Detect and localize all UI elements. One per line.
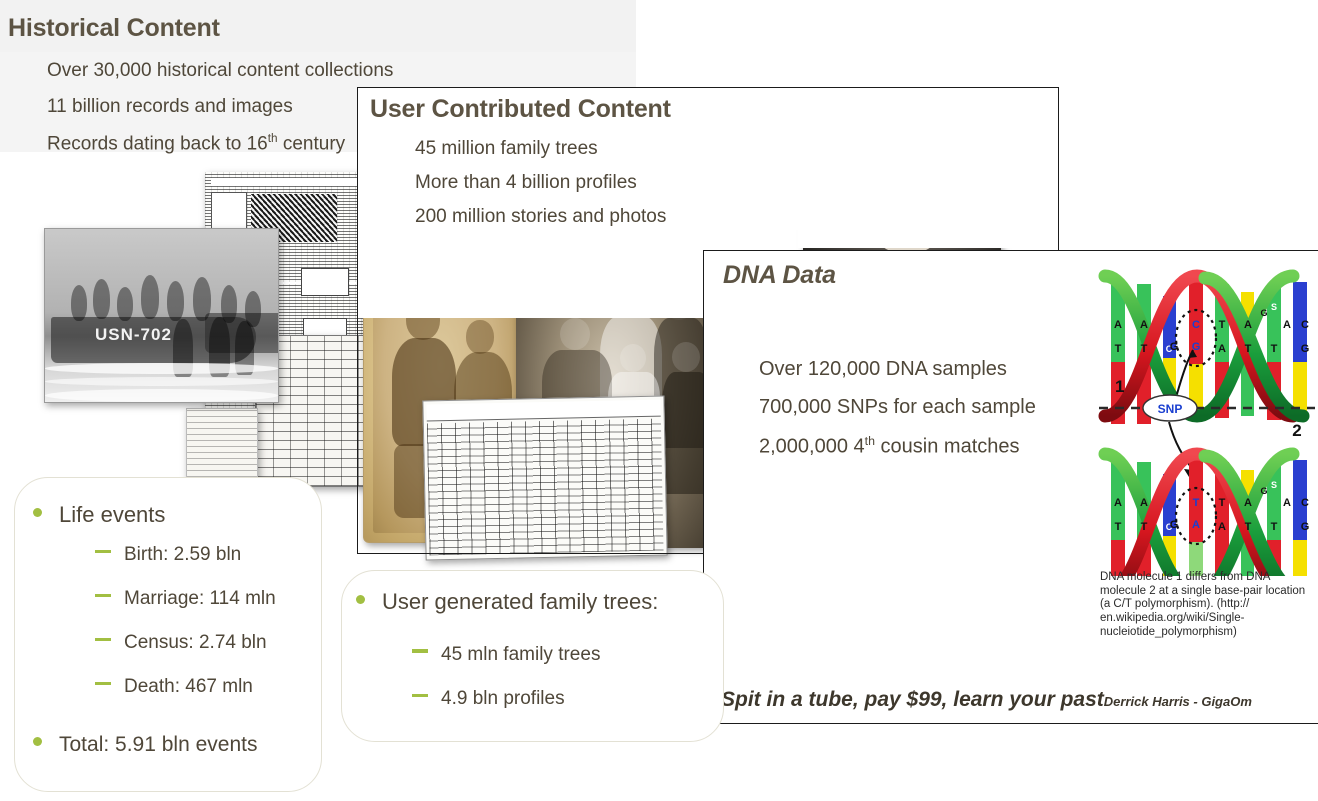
dna-tagline-credit: Derrick Harris - GigaOm: [1104, 694, 1252, 709]
life-events-item-4-label: Death: 467 mln: [124, 676, 253, 698]
svg-text:T: T: [1193, 497, 1200, 509]
dna-bullet-2-text: 700,000 SNPs for each sample: [759, 396, 1036, 418]
life-events-item-2: Marriage: 114 mln: [95, 588, 276, 610]
bullet-dot-icon: [356, 595, 365, 604]
bullet-dot-icon: [33, 508, 42, 517]
dna-bullet-3-post: cousin matches: [875, 436, 1020, 458]
life-events-item-2-label: Marriage: 114 mln: [124, 588, 276, 610]
svg-text:G: G: [1301, 343, 1310, 355]
dna-helix-svg: AA C C TA G S AC TT G G AT TG: [1097, 266, 1318, 576]
family-trees-item-1-label: 45 mln family trees: [441, 644, 600, 666]
historical-content-title: Historical Content: [8, 14, 220, 43]
svg-text:A: A: [1244, 319, 1252, 331]
ucc-bullet-1: 45 million family trees: [415, 138, 598, 160]
family-trees-heading: User generated family trees:: [382, 589, 658, 615]
family-trees-heading-row: User generated family trees:: [356, 589, 658, 615]
svg-text:A: A: [1114, 319, 1122, 331]
svg-text:A: A: [1244, 497, 1252, 509]
svg-text:A: A: [1114, 497, 1122, 509]
historical-bullet-1: Over 30,000 historical content collectio…: [47, 60, 393, 82]
svg-text:A: A: [1218, 521, 1226, 533]
historical-bullet-3: Records dating back to 16th century: [47, 132, 345, 155]
ucc-bullet-3: 200 million stories and photos: [415, 206, 666, 228]
historical-bullet-2: 11 billion records and images: [47, 96, 293, 118]
dna-bullet-3-sup: th: [865, 434, 875, 448]
svg-text:T: T: [1141, 343, 1148, 355]
svg-text:T: T: [1219, 497, 1226, 509]
dna-bullet-2: 700,000 SNPs for each sample: [759, 396, 1036, 419]
life-events-total: Total: 5.91 bln events: [59, 733, 257, 757]
dna-bullet-3-text: 2,000,000 4: [759, 436, 865, 458]
ucc-bullet-2: More than 4 billion profiles: [415, 172, 637, 194]
historical-bullet-3-sup: th: [268, 132, 278, 145]
family-trees-item-1: 45 mln family trees: [412, 644, 600, 666]
svg-text:G: G: [1260, 486, 1267, 496]
svg-text:S: S: [1271, 302, 1277, 312]
dna-molecule-2-label: 2: [1292, 421, 1301, 440]
dash-bullet-icon: [412, 694, 428, 697]
dna-tagline: Spit in a tube, pay $99, learn your past…: [721, 688, 1252, 712]
life-events-total-row: Total: 5.91 bln events: [33, 733, 257, 757]
svg-text:A: A: [1283, 497, 1291, 509]
panel-dna-data: DNA Data Over 120,000 DNA samples 700,00…: [703, 250, 1318, 724]
dash-bullet-icon: [95, 550, 111, 553]
dna-snp-figure: AA C C TA G S AC TT G G AT TG: [1097, 266, 1318, 576]
svg-text:G: G: [1301, 521, 1310, 533]
life-events-heading-row: Life events: [33, 502, 165, 528]
life-events-item-4: Death: 467 mln: [95, 676, 253, 698]
dash-bullet-icon: [95, 638, 111, 641]
svg-text:T: T: [1271, 521, 1278, 533]
dash-bullet-icon: [412, 649, 428, 653]
svg-text:G: G: [1260, 308, 1267, 318]
ucc-bullet-1-text: 45 million family trees: [415, 138, 598, 159]
svg-text:T: T: [1115, 521, 1122, 533]
ucc-bullet-2-text: More than 4 billion profiles: [415, 172, 637, 193]
snp-pill-label: SNP: [1158, 402, 1183, 416]
dna-molecule-2: AA C T TA G S AC TT G A AT TG: [1105, 454, 1309, 576]
dna-molecule-1-label: 1: [1115, 377, 1124, 396]
landing-craft-hull-number: USN-702: [95, 325, 172, 345]
svg-text:T: T: [1245, 343, 1252, 355]
bullet-dot-icon: [33, 737, 42, 746]
dna-bullet-1: Over 120,000 DNA samples: [759, 358, 1007, 381]
family-trees-item-2: 4.9 bln profiles: [412, 688, 565, 710]
callout-life-events: Life events Birth: 2.59 bln Marriage: 11…: [14, 477, 322, 792]
dash-bullet-icon: [95, 682, 111, 685]
user-contributed-content-title: User Contributed Content: [370, 95, 671, 124]
svg-text:T: T: [1115, 343, 1122, 355]
svg-text:T: T: [1219, 319, 1226, 331]
historical-bullet-3-post: century: [278, 133, 346, 154]
life-events-item-3: Census: 2.74 bln: [95, 632, 267, 654]
svg-text:A: A: [1192, 519, 1200, 531]
svg-text:A: A: [1140, 319, 1148, 331]
svg-text:C: C: [1301, 319, 1309, 331]
dna-tagline-text: Spit in a tube, pay $99, learn your past: [721, 688, 1104, 711]
ucc-bullet-3-text: 200 million stories and photos: [415, 206, 666, 227]
dna-molecule-1: AA C C TA G S AC TT G G AT TG: [1105, 276, 1309, 424]
dna-bullet-1-text: Over 120,000 DNA samples: [759, 358, 1007, 380]
svg-text:C: C: [1192, 319, 1200, 331]
dna-data-title: DNA Data: [723, 261, 836, 290]
historical-bullet-2-text: 11 billion records and images: [47, 96, 293, 117]
svg-text:T: T: [1141, 521, 1148, 533]
photo-landing-craft: USN-702: [44, 228, 279, 403]
life-events-heading: Life events: [59, 502, 165, 528]
life-events-item-1: Birth: 2.59 bln: [95, 544, 241, 566]
family-trees-item-2-label: 4.9 bln profiles: [441, 688, 565, 710]
svg-text:T: T: [1271, 343, 1278, 355]
svg-text:T: T: [1245, 521, 1252, 533]
svg-text:C: C: [1301, 497, 1309, 509]
slide-canvas: USN-702 Historical Co: [0, 0, 1318, 801]
svg-text:S: S: [1271, 480, 1277, 490]
historical-bullet-3-text: Records dating back to 16: [47, 133, 268, 154]
dash-bullet-icon: [95, 594, 111, 597]
dna-figure-caption: DNA molecule 1 differs from DNA molecule…: [1100, 571, 1315, 639]
dna-bullet-3: 2,000,000 4th cousin matches: [759, 434, 1020, 459]
svg-text:A: A: [1283, 319, 1291, 331]
life-events-item-3-label: Census: 2.74 bln: [124, 632, 267, 654]
life-events-item-1-label: Birth: 2.59 bln: [124, 544, 241, 566]
historical-bullet-1-text: Over 30,000 historical content collectio…: [47, 60, 393, 81]
svg-text:A: A: [1218, 343, 1226, 355]
svg-text:A: A: [1140, 497, 1148, 509]
callout-family-trees: User generated family trees: 45 mln fami…: [341, 570, 724, 742]
